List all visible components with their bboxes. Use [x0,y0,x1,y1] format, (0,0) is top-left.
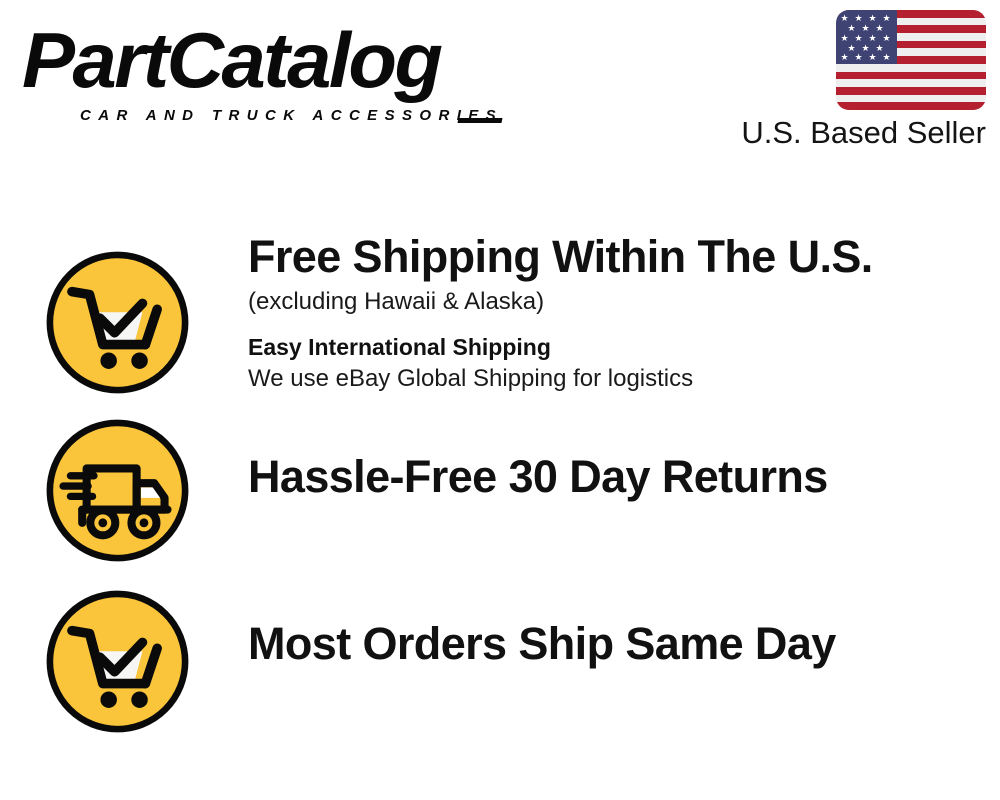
feature-copy: Free Shipping Within The U.S. (excluding… [248,225,1000,394]
us-flag-icon: ★ ★ ★ ★ ★ ★ ★ ★ ★ ★ ★ ★ ★ ★ ★ ★ ★ ★ [836,10,986,110]
flag-star: ★ [847,24,856,33]
feature-row: Free Shipping Within The U.S. (excluding… [0,225,1000,397]
flag-canton: ★ ★ ★ ★ ★ ★ ★ ★ ★ ★ ★ ★ ★ ★ ★ ★ ★ ★ [836,10,897,64]
feature-row: Hassle-Free 30 Day Returns [0,397,1000,568]
feature-copy: Hassle-Free 30 Day Returns [248,397,1000,503]
flag-stripe [836,102,986,110]
feature-secondary-title: Easy International Shipping [248,332,1000,362]
shopping-cart-check-icon [44,249,191,396]
flag-star: ★ [840,14,849,23]
brand-logo[interactable]: PartCatalog CAR AND TRUCK ACCESSORIES [22,20,492,120]
flag-star: ★ [840,34,849,43]
flag-star: ★ [854,53,863,62]
page-header: PartCatalog CAR AND TRUCK ACCESSORIES ★ … [0,0,1000,175]
flag-stripe [836,64,986,72]
shopping-cart-check-icon [44,588,191,735]
brand-underline-rule [457,118,502,123]
flag-star: ★ [875,24,884,33]
flag-star: ★ [882,34,891,43]
feature-subtitle: (excluding Hawaii & Alaska) [248,286,1000,317]
feature-secondary-subtitle: We use eBay Global Shipping for logistic… [248,363,1000,394]
flag-star: ★ [868,53,877,62]
flag-stripe [836,95,986,103]
flag-star: ★ [882,14,891,23]
flag-stripe [836,87,986,95]
flag-stripe [836,72,986,80]
flag-star: ★ [861,24,870,33]
flag-star: ★ [854,34,863,43]
flag-star: ★ [868,14,877,23]
brand-wordmark: PartCatalog [22,16,440,104]
feature-title: Most Orders Ship Same Day [248,618,1000,670]
us-based-seller-label: U.S. Based Seller [716,116,986,150]
flag-stripe [836,79,986,87]
brand-tagline: CAR AND TRUCK ACCESSORIES [80,108,503,124]
delivery-truck-icon [44,417,191,564]
feature-copy: Most Orders Ship Same Day [248,568,1000,670]
flag-star: ★ [868,34,877,43]
flag-star: ★ [882,53,891,62]
flag-star: ★ [854,14,863,23]
feature-list: Free Shipping Within The U.S. (excluding… [0,225,1000,743]
us-based-seller-badge: ★ ★ ★ ★ ★ ★ ★ ★ ★ ★ ★ ★ ★ ★ ★ ★ ★ ★ U.S.… [716,10,986,150]
feature-title: Hassle-Free 30 Day Returns [248,451,1000,503]
flag-star: ★ [840,53,849,62]
feature-title: Free Shipping Within The U.S. [248,231,1000,283]
feature-row: Most Orders Ship Same Day [0,568,1000,743]
